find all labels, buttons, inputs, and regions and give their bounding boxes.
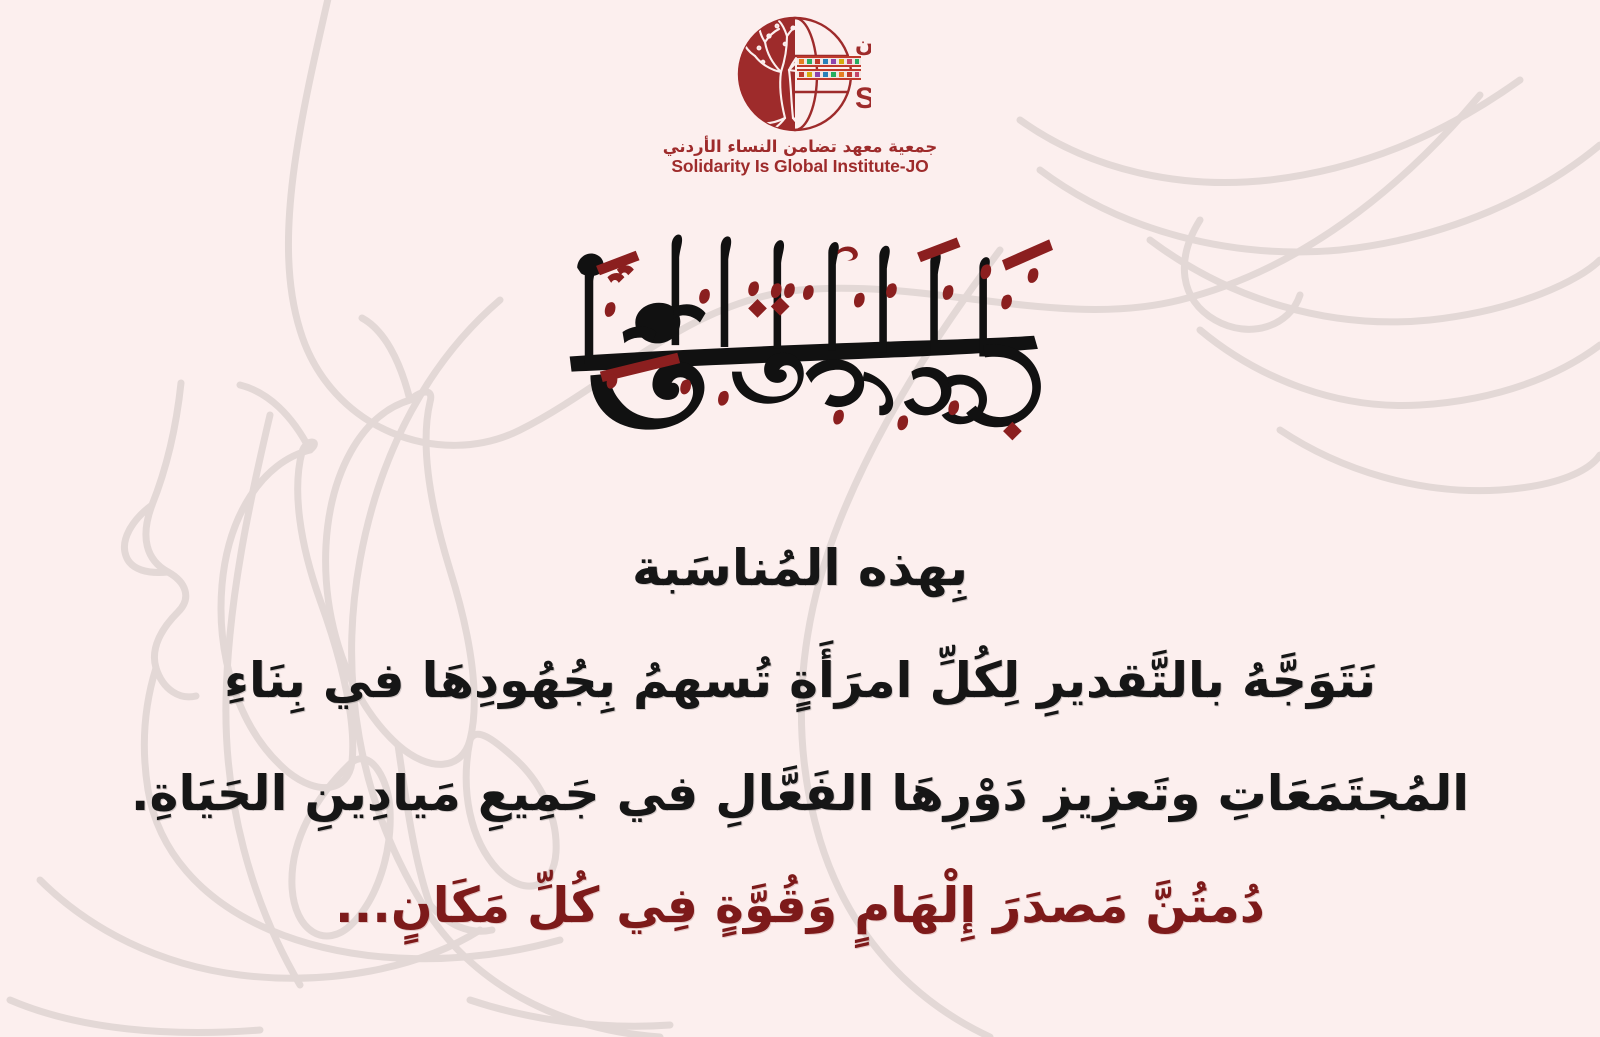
logo-block: تضامن bbox=[0, 14, 1600, 176]
calligraphy-headline: يوم المرأة العالمي bbox=[0, 196, 1600, 466]
headline-calligraphy-artwork bbox=[535, 213, 1065, 449]
body-line-closing-wish: دُمتُنَّ مَصدَرَ إِلْهَامٍ وَقُوَّةٍ فِي… bbox=[60, 874, 1540, 938]
logo-caption: جمعية معهد تضامن النساء الأردني Solidari… bbox=[663, 138, 938, 176]
logo-wordmark-arabic: تضامن bbox=[855, 31, 871, 56]
sigi-tree-globe-logo: تضامن bbox=[729, 14, 871, 134]
logo-caption-arabic: جمعية معهد تضامن النساء الأردني bbox=[663, 138, 938, 156]
body-line-occasion: بِهذه المُناسَبة bbox=[60, 536, 1540, 600]
poster-canvas: تضامن bbox=[0, 0, 1600, 1037]
body-line-appreciation: نَتَوَجَّهُ بالتَّقديرِ لِكُلِّ امرَأَةٍ… bbox=[60, 649, 1540, 713]
logo-caption-english: Solidarity Is Global Institute-JO bbox=[663, 157, 938, 176]
logo-wordmark-latin: SIGI bbox=[855, 82, 871, 115]
body-line-role: المُجتَمَعَاتِ وتَعزِيزِ دَوْرِهَا الفَع… bbox=[60, 762, 1540, 826]
body-copy: بِهذه المُناسَبة نَتَوَجَّهُ بالتَّقديرِ… bbox=[60, 486, 1540, 987]
